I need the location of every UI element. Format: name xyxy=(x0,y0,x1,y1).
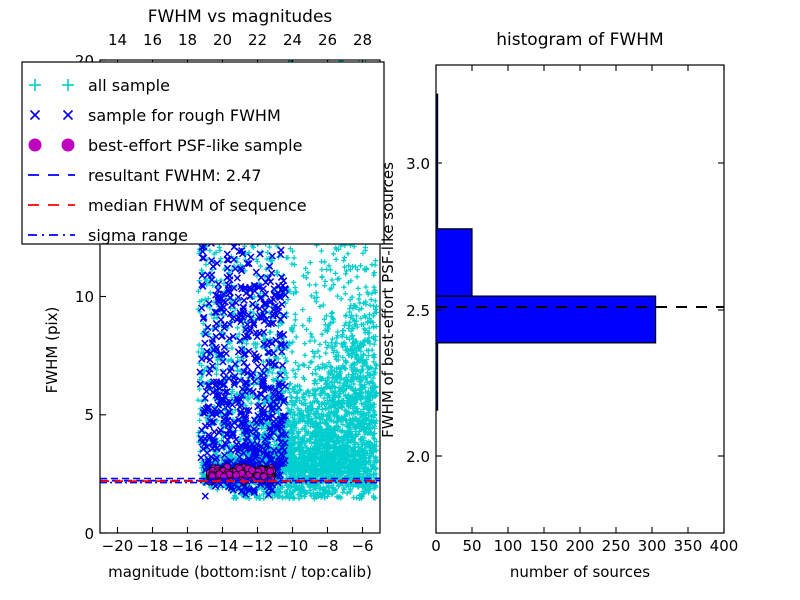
x-tick-label: 250 xyxy=(602,537,631,555)
legend-label: median FHWM of sequence xyxy=(88,196,307,215)
histogram-bar xyxy=(436,296,656,343)
x-tick-label: 50 xyxy=(462,537,481,555)
x-tick-label: 300 xyxy=(638,537,667,555)
right-x-tick-labels: 0 50 100 150 200 250 300 350 400 xyxy=(431,537,738,555)
bottom-tick-label: −8 xyxy=(316,537,338,555)
legend: all sample sample for rough FWHM best-ef… xyxy=(22,62,384,245)
right-panel-title: histogram of FWHM xyxy=(496,30,663,50)
y-tick-label: 2.5 xyxy=(406,302,430,320)
top-tick-label: 16 xyxy=(143,31,162,49)
top-tick-label: 26 xyxy=(318,31,337,49)
legend-label: sigma range xyxy=(88,226,188,245)
legend-label: best-effort PSF-like sample xyxy=(88,136,302,155)
left-y-axis-label: FWHM (pix) xyxy=(43,307,61,394)
y-tick-label: 5 xyxy=(84,406,94,424)
right-y-axis-label: FWHM of best-effort PSF-like sources xyxy=(379,162,397,438)
top-tick-label: 18 xyxy=(178,31,197,49)
top-tick-label: 22 xyxy=(248,31,267,49)
top-tick-label: 20 xyxy=(213,31,232,49)
y-tick-label: 2.0 xyxy=(406,448,430,466)
bottom-tick-label: −14 xyxy=(207,537,239,555)
left-bottom-tick-labels: −20 −18 −16 −14 −12 −10 −8 −6 xyxy=(102,537,374,555)
legend-label: sample for rough FWHM xyxy=(88,106,281,125)
left-panel-title: FWHM vs magnitudes xyxy=(148,7,333,27)
bottom-tick-label: −12 xyxy=(242,537,274,555)
x-tick-label: 350 xyxy=(674,537,703,555)
legend-label: all sample xyxy=(88,76,170,95)
top-tick-label: 14 xyxy=(108,31,127,49)
bottom-tick-label: −6 xyxy=(351,537,373,555)
bottom-tick-label: −18 xyxy=(137,537,169,555)
x-tick-label: 150 xyxy=(530,537,559,555)
figure-canvas: FWHM vs magnitudes 14 16 18 20 22 24 26 … xyxy=(0,0,800,600)
y-tick-label: 3.0 xyxy=(406,155,430,173)
top-tick-label: 28 xyxy=(353,31,372,49)
left-x-axis-label: magnitude (bottom:isnt / top:calib) xyxy=(108,563,372,581)
x-tick-label: 400 xyxy=(710,537,739,555)
top-tick-label: 24 xyxy=(283,31,302,49)
x-tick-label: 100 xyxy=(494,537,523,555)
y-tick-label: 0 xyxy=(84,525,94,543)
bottom-tick-label: −16 xyxy=(172,537,204,555)
y-tick-label: 10 xyxy=(75,288,94,306)
x-tick-label: 0 xyxy=(431,537,441,555)
bottom-tick-label: −10 xyxy=(277,537,309,555)
right-x-axis-label: number of sources xyxy=(510,563,650,581)
bottom-tick-label: −20 xyxy=(102,537,134,555)
x-tick-label: 200 xyxy=(566,537,595,555)
histogram-bar xyxy=(436,229,472,296)
plot-svg: FWHM vs magnitudes 14 16 18 20 22 24 26 … xyxy=(0,0,800,600)
legend-label: resultant FWHM: 2.47 xyxy=(88,166,262,185)
